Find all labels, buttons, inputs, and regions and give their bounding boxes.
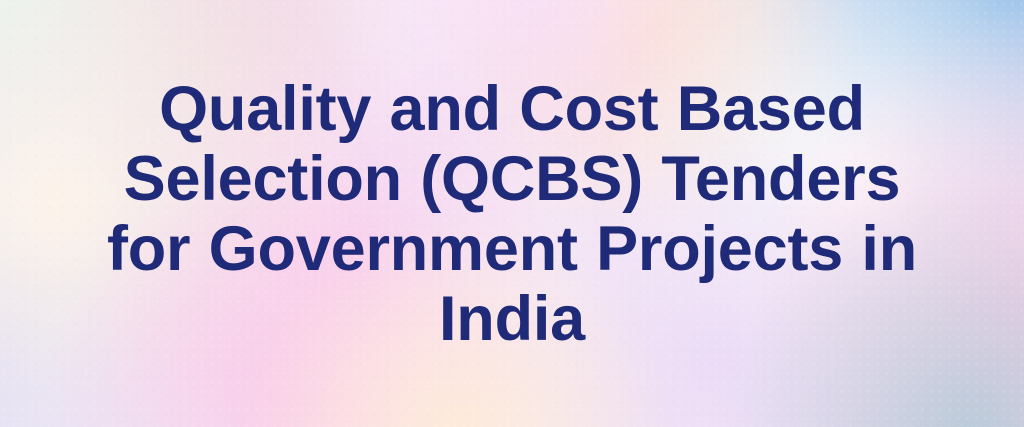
headline-container: Quality and Cost Based Selection (QCBS) … [0, 0, 1024, 427]
title-banner: Quality and Cost Based Selection (QCBS) … [0, 0, 1024, 427]
page-title: Quality and Cost Based Selection (QCBS) … [82, 74, 942, 354]
